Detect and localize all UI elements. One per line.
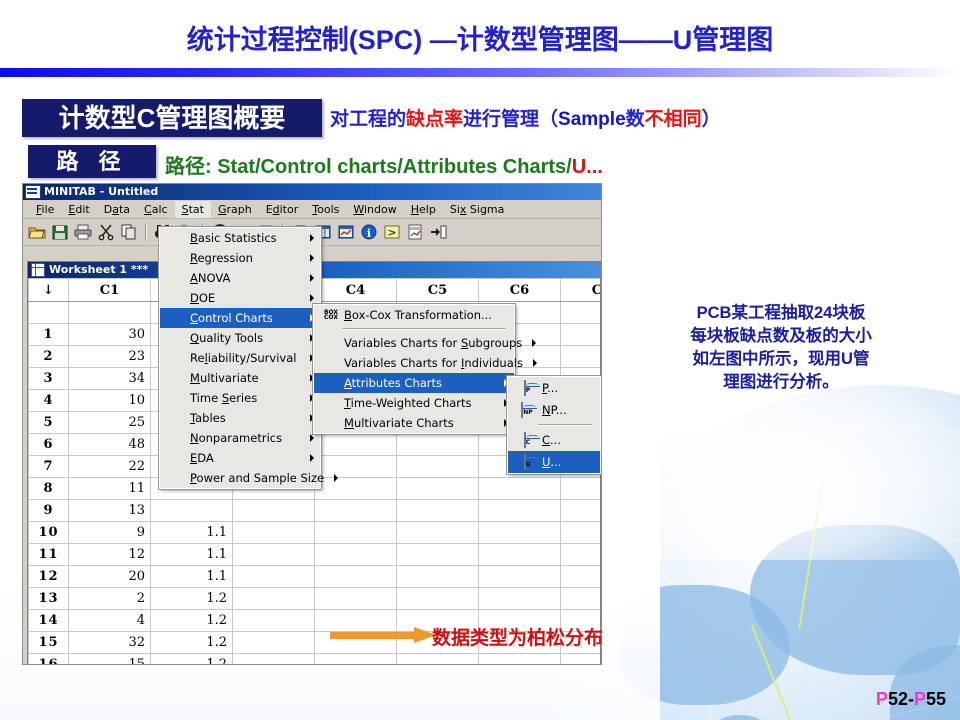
toolbar-separator [145, 223, 147, 241]
page-number-prefix-2: P [914, 689, 926, 709]
page-title: 统计过程控制(SPC) —计数型管理图——U管理图 [0, 18, 960, 57]
cell-c1[interactable]: 11 [69, 478, 151, 500]
cell-empty[interactable] [233, 566, 315, 588]
stat-menu-item-basic-statistics[interactable]: Basic Statistics [160, 228, 320, 248]
menu-item-label: Quality Tools [186, 331, 300, 345]
menu-six-sigma[interactable]: Six Sigma [443, 201, 512, 218]
col-header-c7[interactable]: C7 [561, 279, 601, 302]
cell-empty[interactable] [315, 522, 397, 544]
attributes-item-c[interactable]: CC... [508, 429, 600, 451]
cell-c2[interactable]: 1.1 [151, 544, 233, 566]
np-chart-icon: NP [516, 403, 538, 417]
next-icon[interactable] [428, 222, 448, 242]
cell-empty[interactable] [233, 544, 315, 566]
page-number-prefix-1: P [876, 689, 888, 709]
stat-menu-item-anova[interactable]: ANOVA [160, 268, 320, 288]
cell-empty[interactable] [479, 522, 561, 544]
cell-c1[interactable]: 10 [69, 390, 151, 412]
cell-empty[interactable] [315, 588, 397, 610]
submenu-arrow-icon [310, 454, 314, 462]
menu-separator [342, 328, 506, 330]
submenu-arrow-icon [533, 359, 537, 367]
cell-empty[interactable] [233, 632, 315, 654]
col-header-c1[interactable]: C1 [69, 279, 151, 302]
cell-c2[interactable]: 1.1 [151, 566, 233, 588]
cell-empty[interactable] [315, 544, 397, 566]
row-header[interactable]: 13 [29, 588, 69, 610]
minitab-window-title: MINITAB - Untitled [44, 184, 158, 200]
cell-empty[interactable] [397, 654, 479, 666]
row-header[interactable]: 7 [29, 456, 69, 478]
control-charts-item-attributes-charts[interactable]: Attributes Charts [314, 373, 514, 393]
stat-menu-item-nonparametrics[interactable]: Nonparametrics [160, 428, 320, 448]
row-header[interactable]: 10 [29, 522, 69, 544]
row-header[interactable]: 11 [29, 544, 69, 566]
cell-c2[interactable] [151, 500, 233, 522]
cell-empty[interactable] [233, 522, 315, 544]
menu-window[interactable]: Window [346, 201, 403, 218]
minitab-titlebar: MINITAB - Untitled [23, 184, 601, 200]
cell-c1[interactable]: 34 [69, 368, 151, 390]
submenu-arrow-icon [310, 434, 314, 442]
summary-part-5: 数 [626, 109, 645, 130]
cell-empty[interactable] [397, 500, 479, 522]
page-number-middle: 52- [888, 689, 914, 709]
cell-empty[interactable] [315, 434, 397, 456]
table-row[interactable]: 12201.1 [29, 566, 601, 588]
cell-empty[interactable] [233, 588, 315, 610]
cell-c2[interactable]: 1.2 [151, 588, 233, 610]
menu-separator [538, 424, 592, 426]
cell-empty[interactable] [561, 588, 601, 610]
path-description: 路径: Stat/Control charts/Attributes Chart… [165, 150, 603, 179]
note-line-2: 每块板缺点数及板的大小 [636, 325, 926, 348]
page-number: P52-P55 [876, 689, 946, 710]
table-row[interactable]: 16151.2 [29, 654, 601, 666]
stat-menu-item-doe[interactable]: DOE [160, 288, 320, 308]
svg-text:>: > [387, 226, 396, 239]
row-header[interactable]: 6 [29, 434, 69, 456]
menu-item-label: Variables Charts for Individuals [340, 356, 523, 370]
menu-item-label: ANOVA [186, 271, 300, 285]
menu-item-label: C... [538, 433, 594, 447]
cell-name-c1[interactable] [69, 302, 151, 324]
submenu-arrow-icon [334, 474, 338, 482]
path-badge: 路 径 [28, 145, 156, 178]
menu-item-label: Control Charts [186, 311, 300, 325]
menu-calc[interactable]: Calc [137, 201, 175, 218]
menu-item-label: Basic Statistics [186, 231, 300, 245]
cell-c1[interactable]: 4 [69, 610, 151, 632]
cell-c1[interactable]: 15 [69, 654, 151, 666]
menu-editor[interactable]: Editor [259, 201, 306, 218]
menu-item-label: Regression [186, 251, 300, 265]
row-header-blank [29, 302, 69, 324]
summary-part-4-sample: Sample [558, 109, 626, 130]
c-chart-icon: C [516, 433, 538, 447]
table-row[interactable]: 1321.2 [29, 588, 601, 610]
open-folder-icon[interactable] [27, 222, 47, 242]
cut-scissors-icon[interactable] [96, 222, 116, 242]
stat-menu-item-regression[interactable]: Regression [160, 248, 320, 268]
cell-empty[interactable] [561, 324, 601, 346]
menu-item-label: Multivariate Charts [340, 416, 494, 430]
submenu-arrow-icon [310, 274, 314, 282]
control-charts-item-multivariate-charts[interactable]: Multivariate Charts [314, 413, 514, 433]
attributes-item-u[interactable]: UU... [508, 451, 600, 473]
control-charts-submenu[interactable]: BOXCOXBox-Cox Transformation...Variables… [313, 304, 515, 434]
cell-empty[interactable] [561, 500, 601, 522]
minitab-menubar[interactable]: FFileile Edit Data Calc Stat Graph Edito… [23, 200, 601, 219]
title-divider [0, 68, 960, 77]
cell-c1[interactable]: 48 [69, 434, 151, 456]
cell-empty[interactable] [479, 588, 561, 610]
attributes-item-p[interactable]: PP... [508, 377, 600, 399]
summary-part-3: 进行管理（ [463, 109, 558, 130]
row-header[interactable]: 14 [29, 610, 69, 632]
note-line-1: PCB某工程抽取24块板 [636, 302, 926, 325]
cell-c1[interactable]: 12 [69, 544, 151, 566]
row-header[interactable]: 9 [29, 500, 69, 522]
stat-menu-item-control-charts[interactable]: Control Charts [160, 308, 320, 328]
cell-name-c7[interactable] [561, 302, 601, 324]
summary-part-1: 对工程的 [330, 109, 406, 130]
path-label: 路径: [165, 156, 217, 178]
summary-part-6-highlight: 不相同 [645, 109, 702, 130]
cell-empty[interactable] [479, 654, 561, 666]
save-disk-icon[interactable] [50, 222, 70, 242]
row-header[interactable]: 8 [29, 478, 69, 500]
row-header[interactable]: 12 [29, 566, 69, 588]
cell-c1[interactable]: 23 [69, 346, 151, 368]
menu-item-label: P... [538, 381, 594, 395]
summary-badge: 计数型C管理图概要 [22, 99, 322, 137]
row-header[interactable]: 1 [29, 324, 69, 346]
stat-menu-item-tables[interactable]: Tables [160, 408, 320, 428]
menu-item-label: Time-Weighted Charts [340, 396, 494, 410]
cell-empty[interactable] [233, 610, 315, 632]
print-icon[interactable] [73, 222, 93, 242]
path-value: Stat/Control charts/Attributes Charts/ [217, 156, 571, 178]
attributes-charts-submenu[interactable]: PP...NPNP...CC...UU... [507, 376, 601, 474]
menu-item-label: Power and Sample Size [186, 471, 324, 485]
menu-graph[interactable]: Graph [211, 201, 259, 218]
arrow-shaft [330, 632, 416, 639]
cell-empty[interactable] [397, 522, 479, 544]
cell-empty[interactable] [561, 654, 601, 666]
cell-c2[interactable]: 1.2 [151, 632, 233, 654]
stat-menu-item-eda[interactable]: EDA [160, 448, 320, 468]
svg-text:i: i [367, 227, 371, 240]
cell-empty[interactable] [397, 434, 479, 456]
control-charts-item-variables-charts-for-subgroups[interactable]: Variables Charts for Subgroups [314, 333, 514, 353]
menu-item-label: Time Series [186, 391, 300, 405]
control-charts-item-variables-charts-for-individuals[interactable]: Variables Charts for Individuals [314, 353, 514, 373]
menu-edit[interactable]: Edit [61, 201, 96, 218]
cell-c1[interactable]: 2 [69, 588, 151, 610]
cell-empty[interactable] [233, 500, 315, 522]
page-number-end: 55 [926, 689, 946, 709]
copy-icon[interactable] [119, 222, 139, 242]
cell-empty[interactable] [561, 522, 601, 544]
menu-item-label: Tables [186, 411, 300, 425]
menu-item-label: Attributes Charts [340, 376, 494, 390]
submenu-arrow-icon [310, 234, 314, 242]
path-value-highlight: U... [572, 156, 603, 178]
cell-c2[interactable]: 1.2 [151, 610, 233, 632]
cell-c1[interactable]: 20 [69, 566, 151, 588]
cell-empty[interactable] [479, 566, 561, 588]
stat-menu-item-quality-tools[interactable]: Quality Tools [160, 328, 320, 348]
col-header-c6[interactable]: C6 [479, 279, 561, 302]
menu-file[interactable]: FFileile [29, 201, 61, 218]
explanatory-note: PCB某工程抽取24块板 每块板缺点数及板的大小 如左图中所示，现用U管 理图进… [636, 302, 926, 394]
cell-empty[interactable] [397, 478, 479, 500]
cell-c1[interactable]: 30 [69, 324, 151, 346]
stat-menu-item-power-and-sample-size[interactable]: Power and Sample Size [160, 468, 320, 488]
u-chart-icon: U [516, 455, 538, 469]
menu-item-label: Box-Cox Transformation... [340, 308, 508, 322]
p-chart-icon: P [516, 381, 538, 395]
stat-menu-item-multivariate[interactable]: Multivariate [160, 368, 320, 388]
cell-empty[interactable] [479, 500, 561, 522]
cell-empty[interactable] [561, 566, 601, 588]
menu-item-label: Variables Charts for Subgroups [340, 336, 522, 350]
stat-dropdown-menu[interactable]: Basic StatisticsRegressionANOVADOEContro… [159, 227, 321, 489]
menu-tools[interactable]: Tools [305, 201, 346, 218]
cell-empty[interactable] [315, 566, 397, 588]
row-header[interactable]: 2 [29, 346, 69, 368]
submenu-arrow-icon [310, 254, 314, 262]
summary-description: 对工程的缺点率进行管理（Sample数不相同） [330, 104, 721, 131]
cell-c1[interactable]: 13 [69, 500, 151, 522]
cell-empty[interactable] [479, 478, 561, 500]
table-row[interactable]: 11121.1 [29, 544, 601, 566]
pointer-arrow-icon [330, 627, 440, 643]
cell-empty[interactable] [233, 654, 315, 666]
graph-window-icon[interactable] [336, 222, 356, 242]
cell-c1[interactable]: 22 [69, 456, 151, 478]
cell-c2[interactable]: 1.2 [151, 654, 233, 666]
note-line-4: 理图进行分析。 [636, 371, 926, 394]
col-header-c5[interactable]: C5 [397, 279, 479, 302]
cell-empty[interactable] [315, 456, 397, 478]
row-header[interactable]: 15 [29, 632, 69, 654]
table-row[interactable]: 913 [29, 500, 601, 522]
cell-empty[interactable] [561, 346, 601, 368]
row-header[interactable]: 16 [29, 654, 69, 666]
worksheet-grid-icon [31, 263, 45, 277]
menu-item-label: Nonparametrics [186, 431, 300, 445]
stat-menu-item-time-series[interactable]: Time Series [160, 388, 320, 408]
report-icon[interactable] [405, 222, 425, 242]
menu-item-label: EDA [186, 451, 300, 465]
cell-empty[interactable] [315, 654, 397, 666]
submenu-arrow-icon [310, 294, 314, 302]
cell-empty[interactable] [397, 456, 479, 478]
cell-c1[interactable]: 25 [69, 412, 151, 434]
control-charts-item-time-weighted-charts[interactable]: Time-Weighted Charts [314, 393, 514, 413]
cell-empty[interactable] [561, 544, 601, 566]
row-header[interactable]: 3 [29, 368, 69, 390]
info-icon[interactable]: i [359, 222, 379, 242]
session-window-icon[interactable]: > [382, 222, 402, 242]
col-header-index[interactable]: ↓ [29, 279, 69, 302]
cell-c1[interactable]: 32 [69, 632, 151, 654]
submenu-arrow-icon [532, 339, 536, 347]
minitab-window[interactable]: MINITAB - Untitled FFileile Edit Data Ca… [22, 183, 602, 665]
note-line-3: 如左图中所示，现用U管 [636, 348, 926, 371]
arrow-caption: 数据类型为柏松分布 [432, 623, 603, 650]
box-cox-icon: BOXCOX [322, 310, 340, 320]
menu-item-label: U... [538, 455, 594, 469]
cell-c1[interactable]: 9 [69, 522, 151, 544]
worksheet-title-text: Worksheet 1 *** [49, 262, 148, 278]
cell-empty[interactable] [315, 478, 397, 500]
row-header[interactable]: 5 [29, 412, 69, 434]
menu-item-label: DOE [186, 291, 300, 305]
attributes-item-np[interactable]: NPNP... [508, 399, 600, 421]
menu-item-label: Reliability/Survival [186, 351, 300, 365]
menu-stat[interactable]: Stat [175, 201, 211, 218]
cell-empty[interactable] [397, 544, 479, 566]
row-header[interactable]: 4 [29, 390, 69, 412]
control-charts-item-box-cox-transformation[interactable]: BOXCOXBox-Cox Transformation... [314, 305, 514, 325]
minitab-app-icon [25, 185, 41, 199]
menu-data[interactable]: Data [97, 201, 137, 218]
cell-empty[interactable] [479, 544, 561, 566]
stat-menu-item-reliability-survival[interactable]: Reliability/Survival [160, 348, 320, 368]
cell-empty[interactable] [397, 566, 479, 588]
cell-empty[interactable] [397, 588, 479, 610]
table-row[interactable]: 1091.1 [29, 522, 601, 544]
menu-item-label: Multivariate [186, 371, 300, 385]
cell-empty[interactable] [561, 478, 601, 500]
summary-part-7: ） [702, 109, 721, 130]
cell-c2[interactable]: 1.1 [151, 522, 233, 544]
cell-empty[interactable] [315, 500, 397, 522]
col-header-c4[interactable]: C4 [315, 279, 397, 302]
menu-item-label: NP... [538, 403, 594, 417]
summary-part-2-highlight: 缺点率 [406, 109, 463, 130]
menu-help[interactable]: Help [404, 201, 443, 218]
